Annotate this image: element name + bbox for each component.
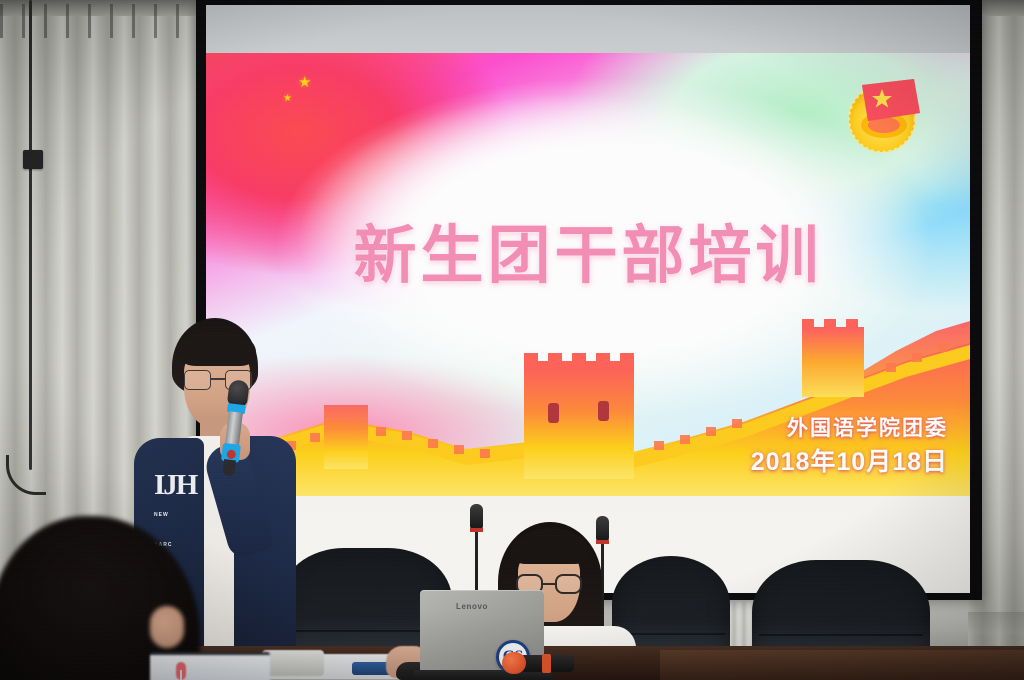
laptop-brand-label: Lenovo [456,602,488,611]
foreground-person-ear [150,606,184,648]
projection-screen-frame: ★ ★ [196,0,982,600]
foreground-laptop-screen[interactable] [150,652,270,680]
microphone-tail [222,459,236,476]
conference-table-right-section [660,650,1024,680]
slide-date: 2018年10月18日 [751,442,948,478]
flag-star-icon: ★ [283,94,292,104]
chair-seam [759,634,923,636]
wall-mounted-box [23,150,43,169]
desk-telephone [262,650,324,676]
microphone-body [225,411,243,446]
handheld-mic-ring [542,654,551,673]
foreground-laptop-mic-stem [180,670,182,680]
slide-credit: 外国语学院团委 2018年10月18日 [751,412,948,478]
slide-organization: 外国语学院团委 [751,412,948,442]
presentation-slide: ★ ★ [206,53,970,496]
curtain-hem-right [968,612,1024,634]
slide-title: 新生团干部培训 [206,205,970,296]
photo-scene: ★ ★ [0,0,1024,680]
tshirt-logo-text: IJH [154,469,196,501]
speaker-fringe [176,332,256,366]
projection-screen-surface: ★ ★ [206,5,970,593]
flag-star-icon: ★ [298,75,311,90]
handheld-mic-head [502,652,526,674]
glasses-bridge [543,583,555,585]
communist-youth-league-emblem-icon [838,71,928,155]
handheld-mic-on-table[interactable] [502,650,574,676]
glasses-lens-left [184,370,211,390]
glasses-bridge [211,378,225,380]
gooseneck-mic-head [470,504,483,530]
glasses-lens-right [555,574,582,594]
tshirt-logo: IJH NEW BARC [154,470,184,512]
hanging-cable [29,0,32,470]
